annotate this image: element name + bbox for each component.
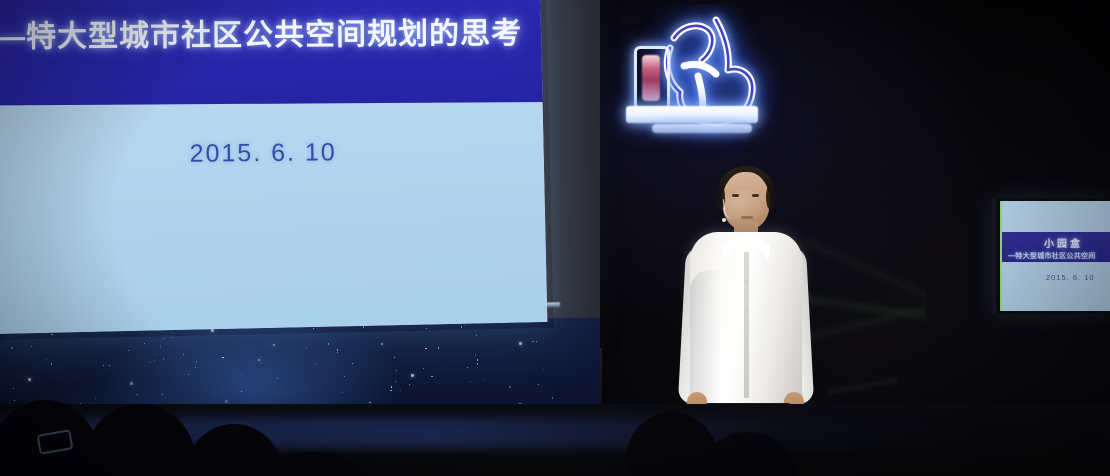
shirt-button [745, 340, 748, 343]
presenter-eye-right [752, 194, 759, 197]
presenter-mouth [741, 216, 753, 219]
monitor-subtitle-text: —特大型城市社区公共空间 [1008, 251, 1110, 261]
slide-date-text: 2015. 6. 10 [189, 138, 336, 168]
neon-logo-sign [612, 4, 788, 154]
neon-emblem-icon [634, 46, 670, 110]
monitor-title-text: 小园盒 [1044, 235, 1110, 250]
confidence-monitor: 小园盒 —特大型城市社区公共空间 2015. 6. 10 [993, 198, 1110, 314]
monitor-title-band: 小园盒 —特大型城市社区公共空间 [1002, 232, 1110, 262]
shirt-button [745, 280, 748, 283]
stage-scene-photo: —特大型城市社区公共空间规划的思考 2015. 6. 10 [0, 0, 1110, 476]
presenter-shirt-placket [744, 252, 749, 398]
monitor-date-text: 2015. 6. 10 [1046, 273, 1095, 282]
monitor-screen: 小园盒 —特大型城市社区公共空间 2015. 6. 10 [1000, 201, 1110, 311]
neon-base-bar [626, 106, 758, 123]
headset-mic-tip [722, 218, 726, 222]
shirt-button [745, 310, 748, 313]
slide-title-text: —特大型城市社区公共空间规划的思考 [0, 8, 535, 56]
shirt-button [745, 370, 748, 373]
neon-base-bar-lower [652, 124, 752, 133]
projection-screen: —特大型城市社区公共空间规划的思考 2015. 6. 10 [0, 0, 547, 334]
presenter-shirt-shadow [690, 270, 742, 410]
